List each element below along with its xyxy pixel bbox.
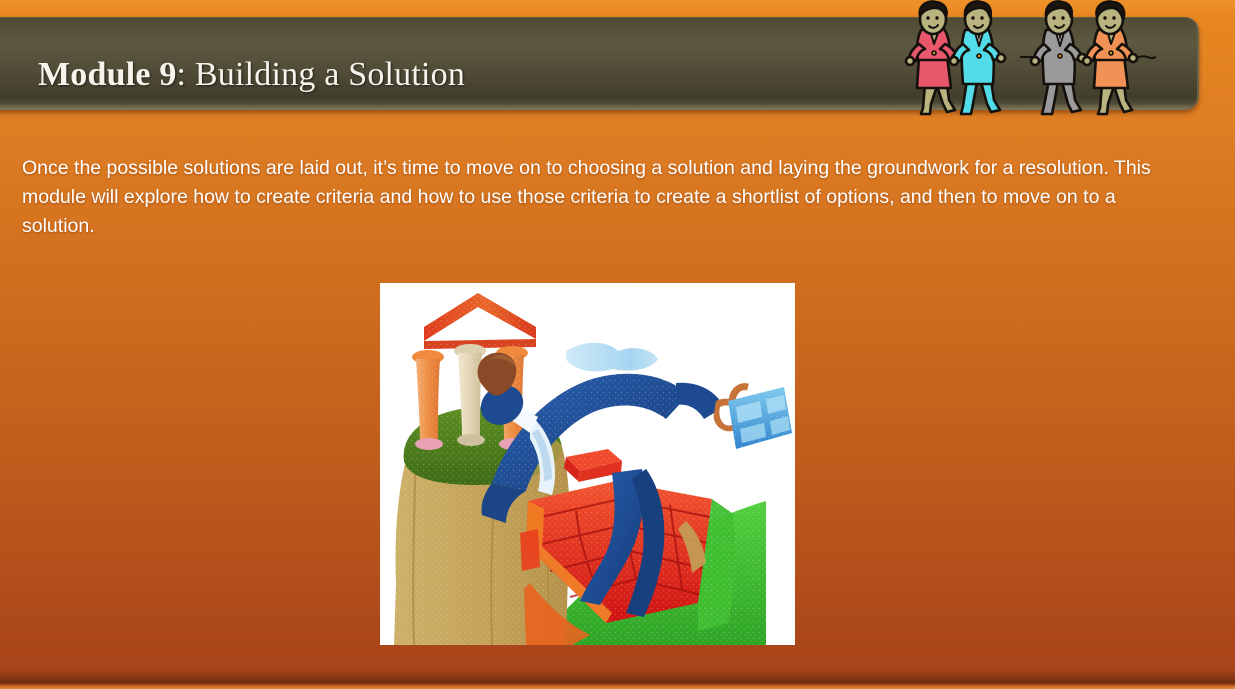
slide-canvas: Module 9: Building a Solution [0,0,1235,689]
title-subject: Building a Solution [195,56,465,93]
title-bar: Module 9: Building a Solution [0,17,1199,110]
illustration-image [380,283,795,645]
body-paragraph: Once the possible solutions are laid out… [22,154,1162,241]
title-separator: : [177,56,195,93]
page-title: Module 9: Building a Solution [38,56,465,94]
title-module-number: Module 9 [38,56,177,93]
